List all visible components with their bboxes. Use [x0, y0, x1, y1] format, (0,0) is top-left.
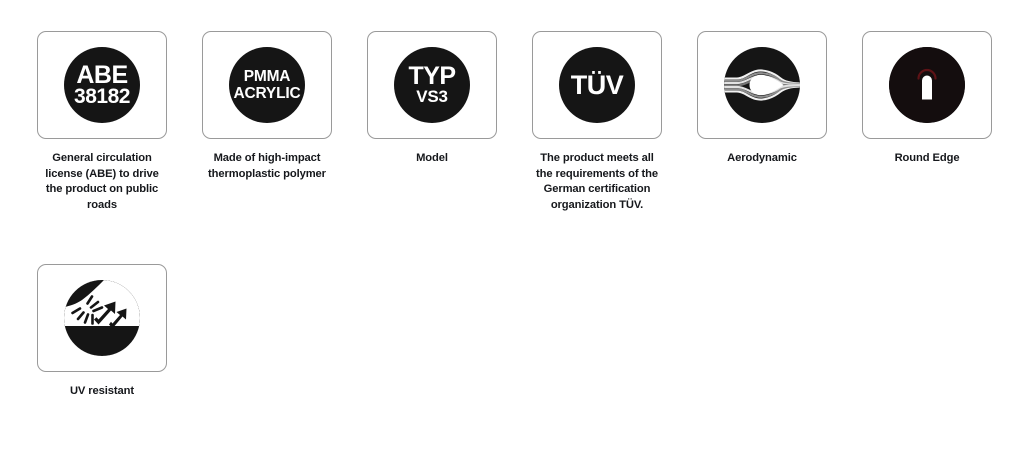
abe-certification-icon: ABE 38182	[64, 47, 140, 123]
feature-item-round-edge: Round Edge	[861, 31, 993, 167]
badge-card-typ: TYP VS3	[367, 31, 497, 139]
feature-item-tuv: TÜV The product meets all the requiremen…	[531, 31, 663, 213]
feature-item-typ: TYP VS3 Model	[366, 31, 498, 167]
airfoil-aerodynamic-icon	[724, 47, 800, 123]
typ-badge-line2: VS3	[416, 88, 448, 106]
round-edge-icon	[889, 47, 965, 123]
feature-item-pmma: PMMA ACRYLIC Made of high-impact thermop…	[201, 31, 333, 182]
tuv-certification-icon: TÜV	[559, 47, 635, 123]
pmma-badge-line2: ACRYLIC	[234, 85, 301, 102]
pmma-acrylic-icon: PMMA ACRYLIC	[229, 47, 305, 123]
caption-aerodynamic: Aerodynamic	[696, 151, 828, 167]
feature-item-uv: UV resistant	[36, 264, 168, 400]
tuv-badge-line1: TÜV	[571, 70, 624, 100]
caption-round-edge: Round Edge	[861, 151, 993, 167]
feature-item-aerodynamic: Aerodynamic	[696, 31, 828, 167]
badge-card-round-edge	[862, 31, 992, 139]
uv-resistant-sun-icon	[64, 280, 140, 356]
caption-abe: General circulation license (ABE) to dri…	[36, 151, 168, 213]
caption-pmma: Made of high-impact thermoplastic polyme…	[201, 151, 333, 182]
badge-card-aerodynamic	[697, 31, 827, 139]
badge-card-uv	[37, 264, 167, 372]
caption-uv: UV resistant	[36, 384, 168, 400]
feature-badge-grid: ABE 38182 General circulation license (A…	[0, 0, 1024, 455]
abe-badge-line2: 38182	[74, 87, 130, 107]
typ-badge-line1: TYP	[408, 64, 455, 88]
caption-typ: Model	[366, 151, 498, 167]
badge-card-abe: ABE 38182	[37, 31, 167, 139]
badge-card-tuv: TÜV	[532, 31, 662, 139]
model-type-icon: TYP VS3	[394, 47, 470, 123]
abe-badge-line1: ABE	[76, 64, 127, 87]
caption-tuv: The product meets all the requirements o…	[531, 151, 663, 213]
feature-item-abe: ABE 38182 General circulation license (A…	[36, 31, 168, 213]
badge-card-pmma: PMMA ACRYLIC	[202, 31, 332, 139]
pmma-badge-line1: PMMA	[244, 68, 291, 85]
